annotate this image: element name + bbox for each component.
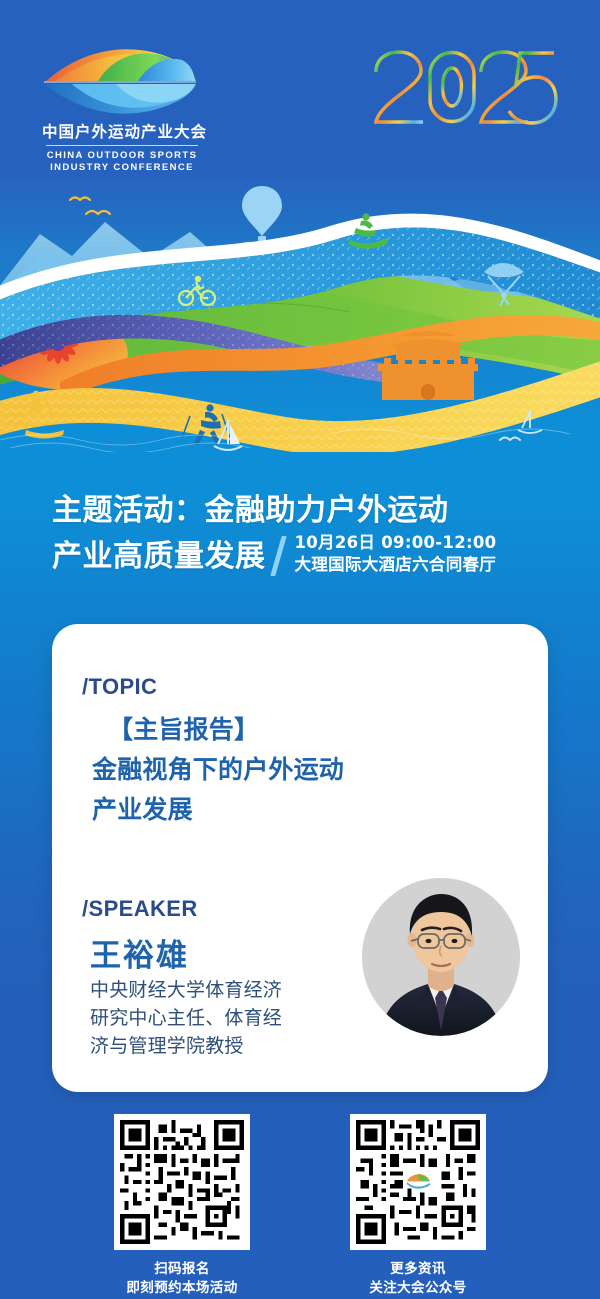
event-date-time: 10月26日 09:00-12:00 xyxy=(295,532,497,554)
topic-title: 【主旨报告】 金融视角下的户外运动 产业发展 xyxy=(92,710,522,830)
event-meta: 10月26日 09:00-12:00 大理国际大酒店六合同春厅 xyxy=(295,532,497,578)
topic-line-2: 金融视角下的户外运动 xyxy=(92,750,522,790)
qr-caption-line-2: 关注大会公众号 xyxy=(350,1279,486,1298)
speaker-name: 王裕雄 xyxy=(90,930,189,975)
logo-english-line1: CHINA OUTDOOR SPORTS xyxy=(42,150,202,162)
qr-caption-line-1: 扫码报名 xyxy=(114,1260,250,1279)
speaker-kicker-label: /SPEAKER xyxy=(82,896,198,922)
event-title-block: 主题活动：金融助力户外运动 产业高质量发展 10月26日 09:00-12:00… xyxy=(52,490,572,578)
logo-chinese-name: 中国户外运动产业大会 xyxy=(42,120,202,142)
poster-header: 中国户外运动产业大会 CHINA OUTDOOR SPORTS INDUSTRY… xyxy=(0,0,600,180)
topic-kicker-label: /TOPIC xyxy=(82,674,157,700)
topic-line-1: 【主旨报告】 xyxy=(92,710,522,750)
logo-divider xyxy=(46,145,198,146)
qr-caption-registration: 扫码报名 即刻预约本场活动 xyxy=(114,1260,250,1298)
year-2025-graphic xyxy=(368,46,558,138)
speaker-title-line-3: 济与管理学院教授 xyxy=(90,1032,340,1060)
qr-section: 扫码报名 即刻预约本场活动 xyxy=(0,1114,600,1298)
speaker-avatar xyxy=(362,878,520,1036)
topic-line-3: 产业发展 xyxy=(92,790,522,830)
slash-divider-icon xyxy=(270,536,286,576)
session-card: /TOPIC 【主旨报告】 金融视角下的户外运动 产业发展 /SPEAKER 王… xyxy=(52,624,548,1092)
qr-item-registration: 扫码报名 即刻预约本场活动 xyxy=(114,1114,250,1298)
qr-code-wechat-official[interactable] xyxy=(350,1114,486,1250)
qr-code-registration[interactable] xyxy=(114,1114,250,1250)
mountain-wave-logo-icon xyxy=(42,48,198,114)
speaker-title-line-2: 研究中心主任、体育经 xyxy=(90,1004,340,1032)
poster-root: 中国户外运动产业大会 CHINA OUTDOOR SPORTS INDUSTRY… xyxy=(0,0,600,1299)
title-line-2: 产业高质量发展 xyxy=(52,536,266,578)
event-venue: 大理国际大酒店六合同春厅 xyxy=(295,554,497,576)
title-line-1: 主题活动：金融助力户外运动 xyxy=(52,490,572,532)
outdoor-sports-illustration xyxy=(0,172,600,452)
qr-caption-line-1: 更多资讯 xyxy=(350,1260,486,1279)
speaker-title-line-1: 中央财经大学体育经济 xyxy=(90,976,340,1004)
qr-item-wechat: 更多资讯 关注大会公众号 xyxy=(350,1114,486,1298)
speaker-affiliation: 中央财经大学体育经济 研究中心主任、体育经 济与管理学院教授 xyxy=(90,976,340,1060)
qr-caption-line-2: 即刻预约本场活动 xyxy=(114,1279,250,1298)
conference-logo: 中国户外运动产业大会 CHINA OUTDOOR SPORTS INDUSTRY… xyxy=(42,48,202,174)
qr-caption-wechat: 更多资讯 关注大会公众号 xyxy=(350,1260,486,1298)
